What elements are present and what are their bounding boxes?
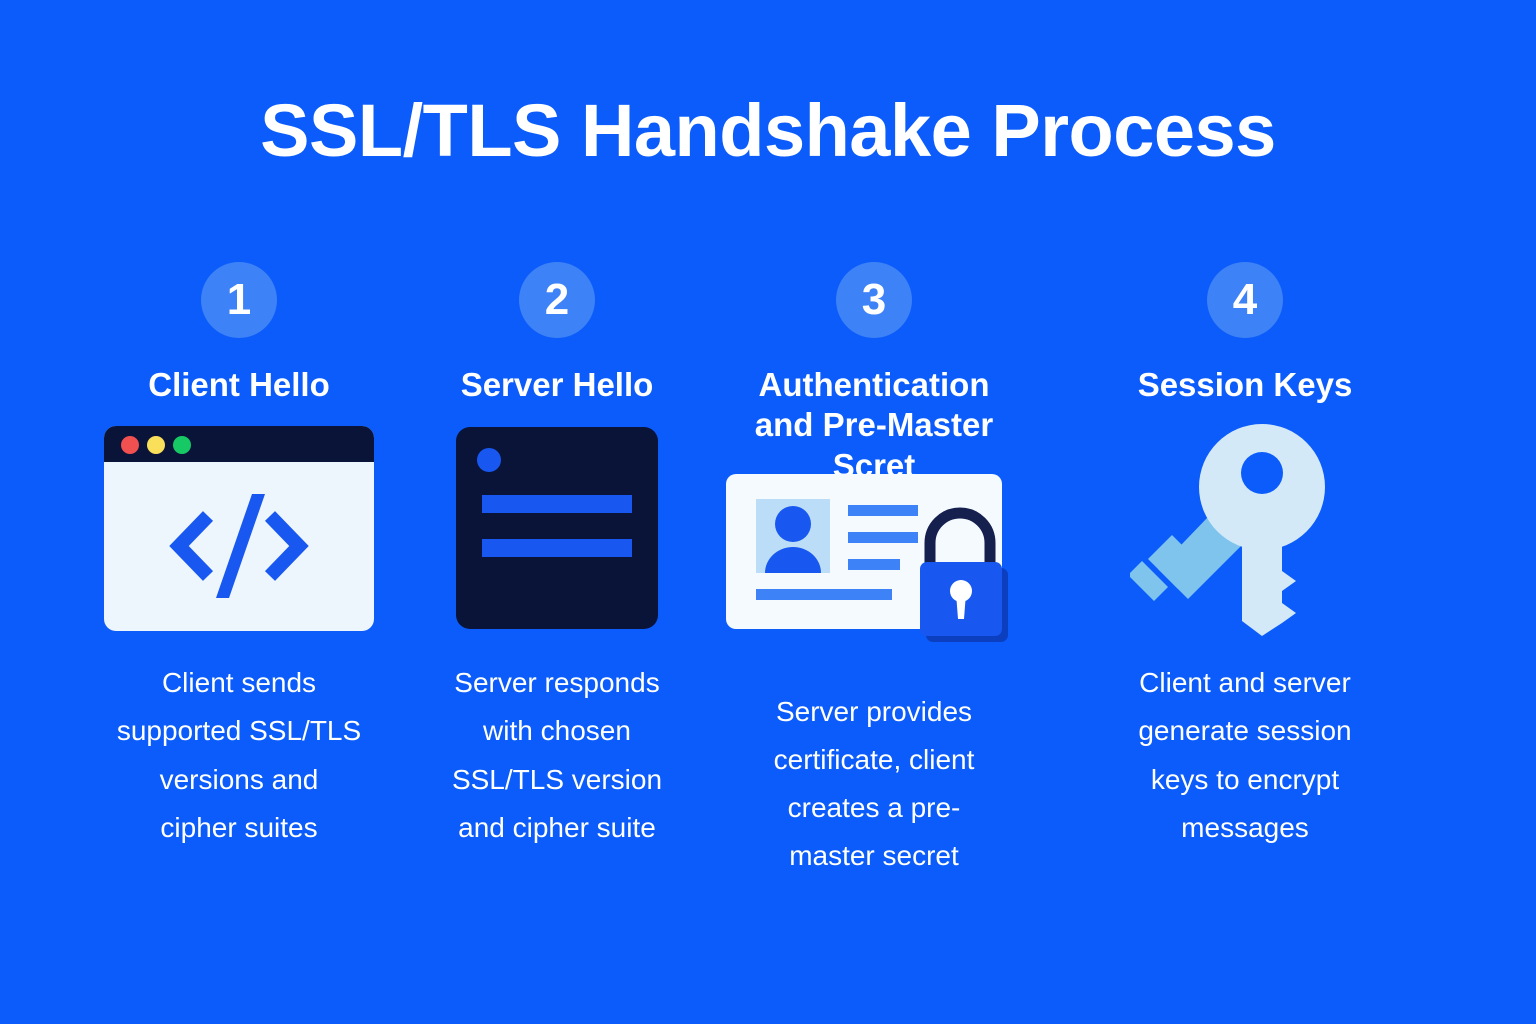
step-description-1: Client sends supported SSL/TLS versions … <box>117 659 361 852</box>
certificate-padlock-icon <box>724 467 1024 647</box>
step-number-3: 3 <box>862 278 886 322</box>
step-description-3: Server provides certificate, client crea… <box>774 688 975 881</box>
step-column-2: 2 Server Hello Server responds with chos… <box>407 262 707 852</box>
step-number-badge-3: 3 <box>836 262 912 338</box>
step-title-2: Server Hello <box>461 365 654 405</box>
step-number-2: 2 <box>545 278 569 322</box>
infographic-root: SSL/TLS Handshake Process 1 Client Hello <box>0 0 1536 1024</box>
step-column-3: 3 Authentication and Pre-Master Scret <box>724 262 1024 880</box>
step-description-4: Client and server generate session keys … <box>1138 659 1351 852</box>
browser-window-code-icon <box>104 426 374 631</box>
step-icon-4 <box>1130 419 1360 637</box>
step-icon-3 <box>724 448 1024 666</box>
step-number-badge-1: 1 <box>201 262 277 338</box>
step-number-4: 4 <box>1233 278 1257 322</box>
page-title: SSL/TLS Handshake Process <box>0 90 1536 171</box>
step-icon-1 <box>104 419 374 637</box>
step-title-1: Client Hello <box>148 365 330 405</box>
step-column-4: 4 Session Keys <box>1095 262 1395 852</box>
step-column-1: 1 Client Hello <box>89 262 389 852</box>
server-icon <box>456 427 658 629</box>
step-number-badge-4: 4 <box>1207 262 1283 338</box>
step-icon-2 <box>456 419 658 637</box>
step-number-1: 1 <box>227 278 251 322</box>
keys-icon <box>1130 421 1360 636</box>
step-description-2: Server responds with chosen SSL/TLS vers… <box>452 659 662 852</box>
step-number-badge-2: 2 <box>519 262 595 338</box>
step-title-4: Session Keys <box>1138 365 1353 405</box>
